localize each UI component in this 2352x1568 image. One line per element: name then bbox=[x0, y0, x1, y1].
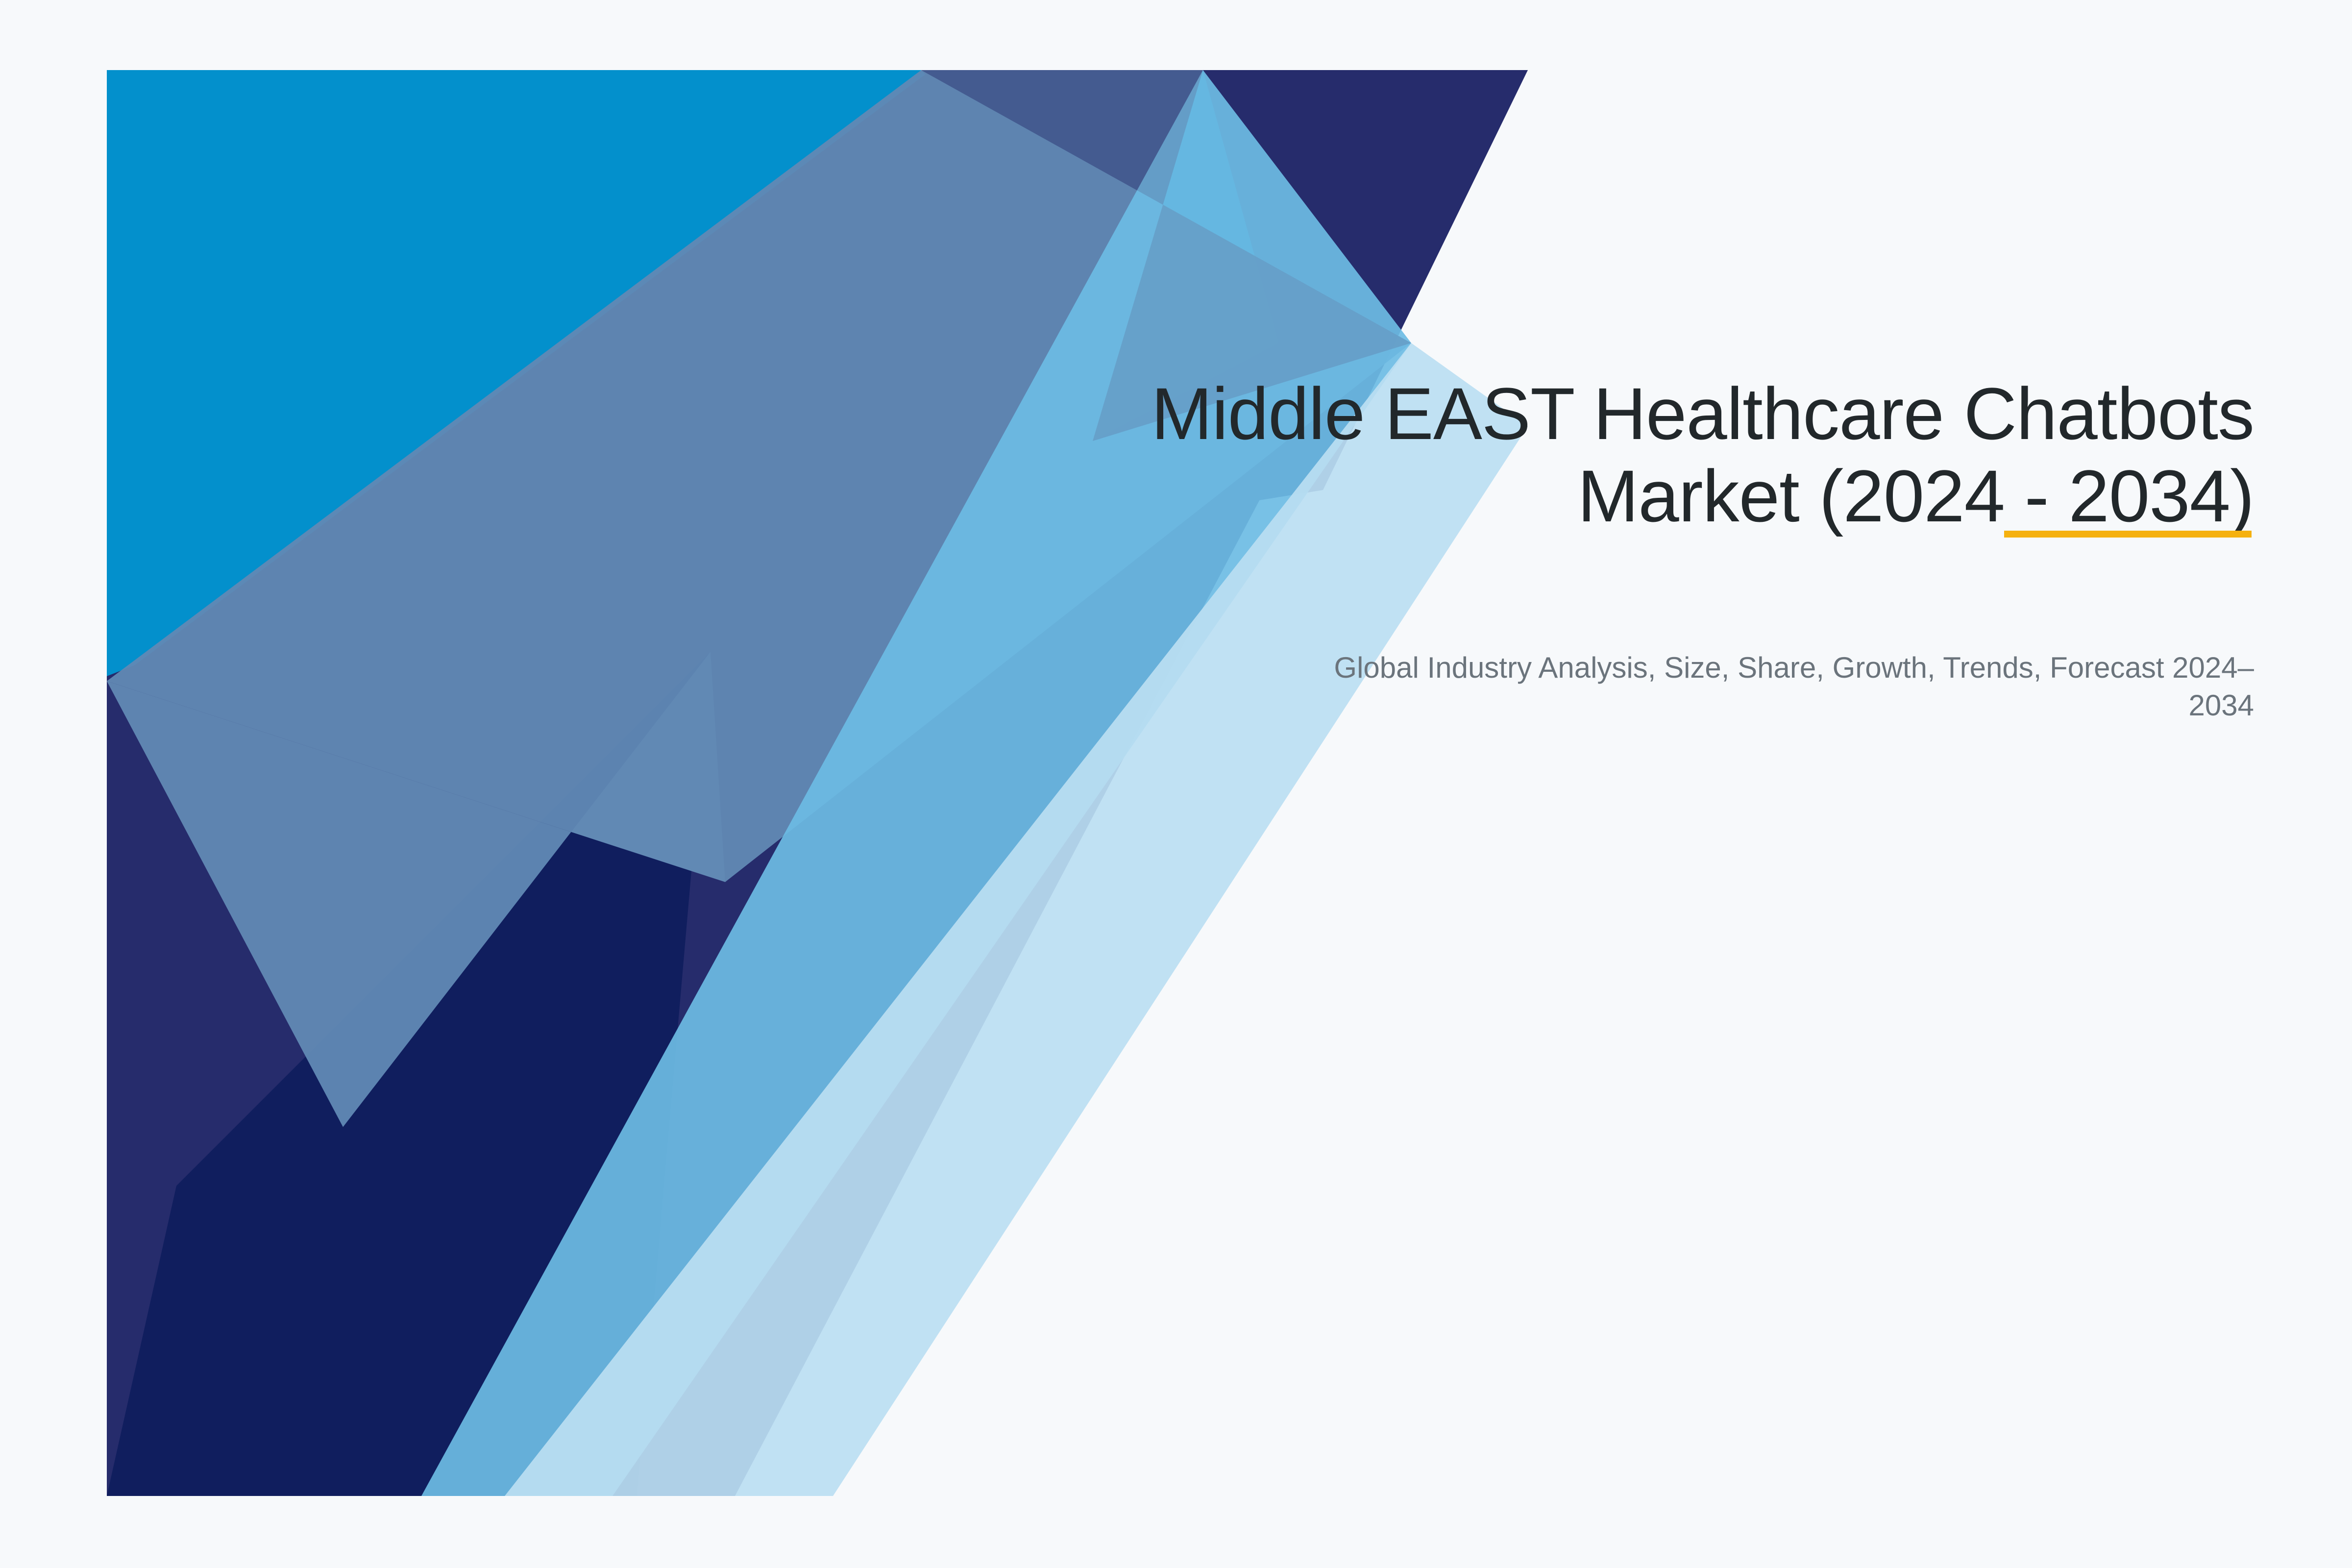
abstract-geometric-cover-graphic bbox=[0, 0, 2352, 1568]
page-subtitle: Global Industry Analysis, Size, Share, G… bbox=[1274, 649, 2254, 725]
title-underline-accent bbox=[2004, 531, 2252, 538]
page-title: Middle EAST Healthcare Chatbots Market (… bbox=[931, 372, 2254, 537]
cover-text-block: Middle EAST Healthcare Chatbots Market (… bbox=[931, 372, 2254, 537]
cover-page: Middle EAST Healthcare Chatbots Market (… bbox=[0, 0, 2352, 1568]
